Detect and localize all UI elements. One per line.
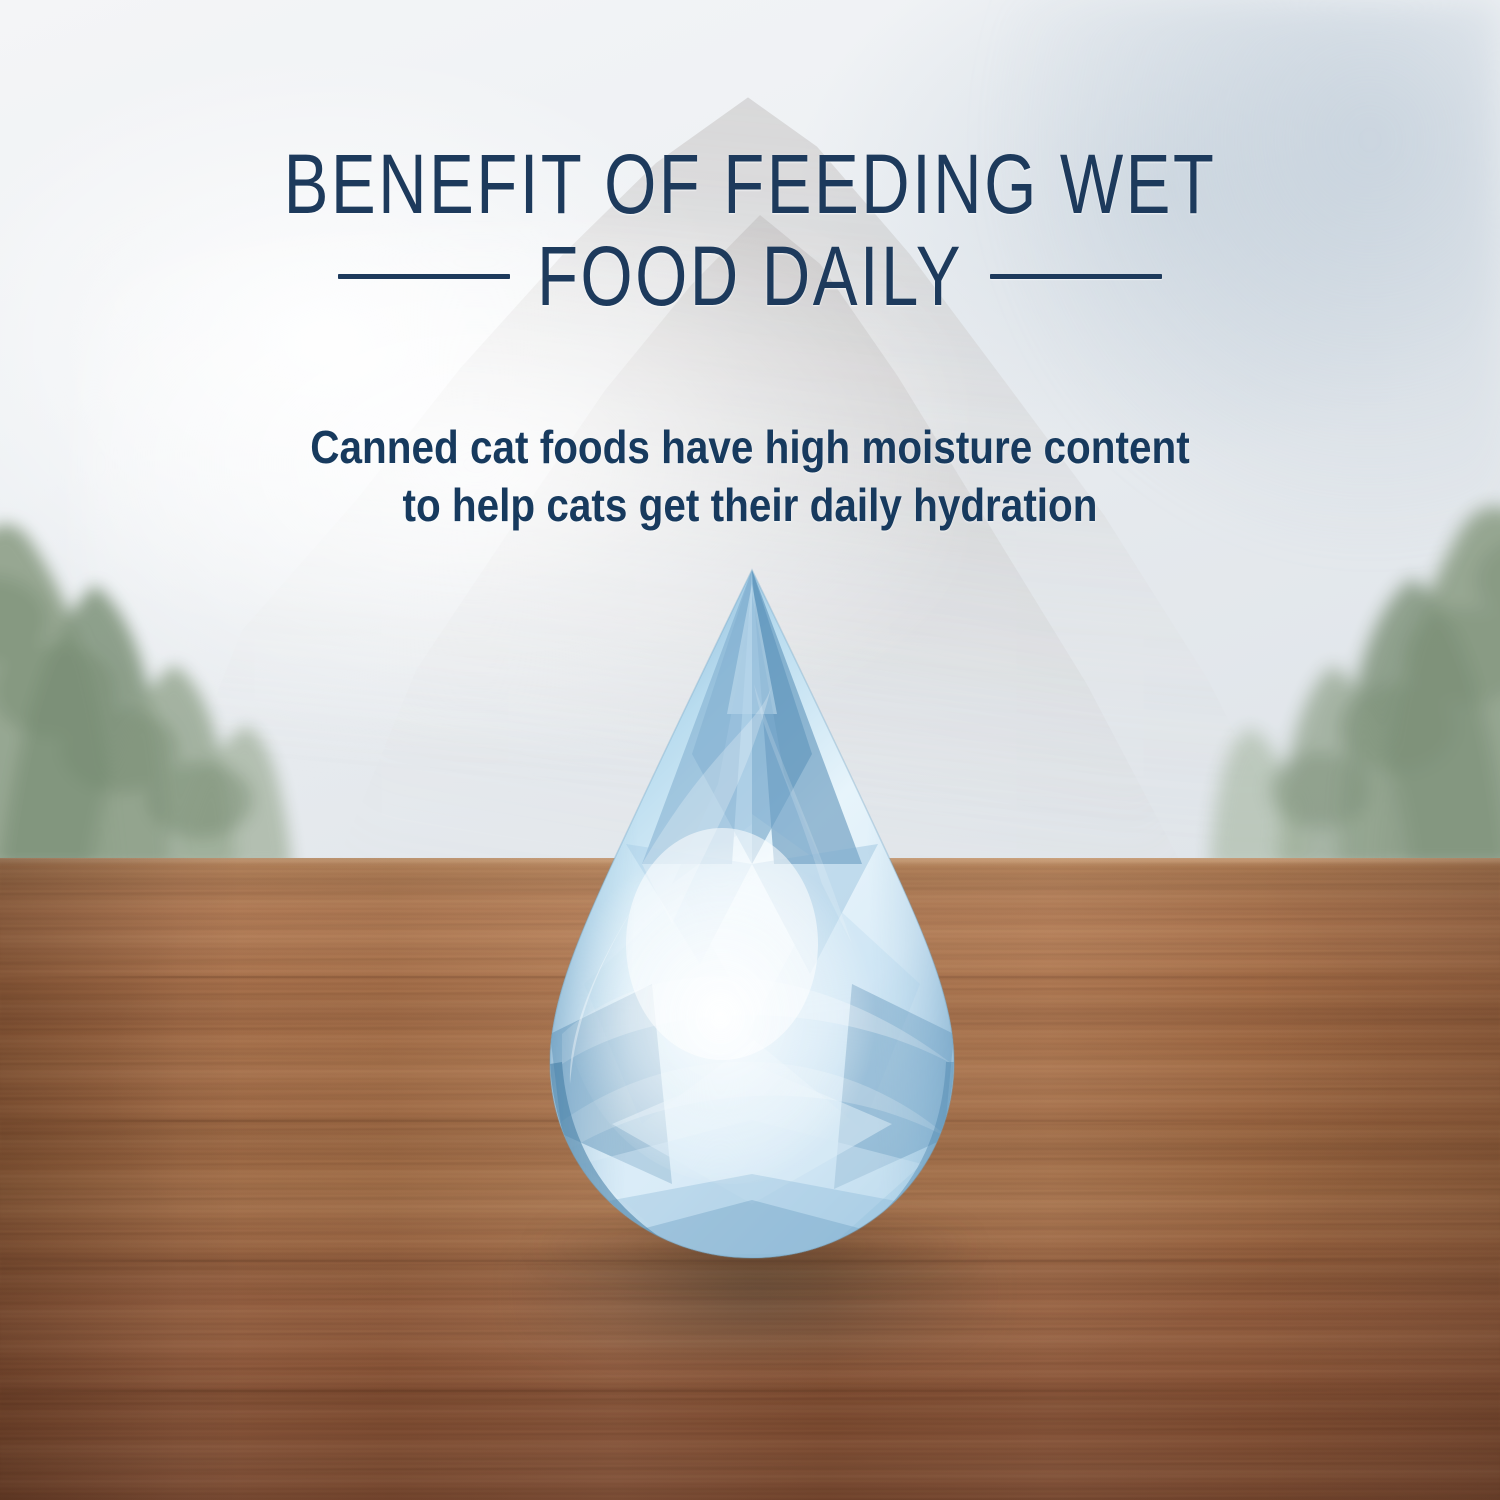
headline-line-2-row: FOOD DAILY (150, 230, 1350, 322)
decorative-rule-left (338, 274, 510, 279)
subtitle-line-2: to help cats get their daily hydration (90, 476, 1410, 534)
headline-block: BENEFIT OF FEEDING WET FOOD DAILY (0, 138, 1500, 322)
water-droplet-icon (522, 564, 982, 1264)
droplet-reflection (520, 1255, 990, 1375)
subtitle-line-1: Canned cat foods have high moisture cont… (90, 418, 1410, 476)
trees-left (0, 490, 340, 870)
poster-canvas: BENEFIT OF FEEDING WET FOOD DAILY Canned… (0, 0, 1500, 1500)
decorative-rule-right (990, 274, 1162, 279)
headline-line-2: FOOD DAILY (537, 230, 963, 322)
subtitle-block: Canned cat foods have high moisture cont… (90, 418, 1410, 534)
headline-line-1: BENEFIT OF FEEDING WET (150, 138, 1350, 230)
